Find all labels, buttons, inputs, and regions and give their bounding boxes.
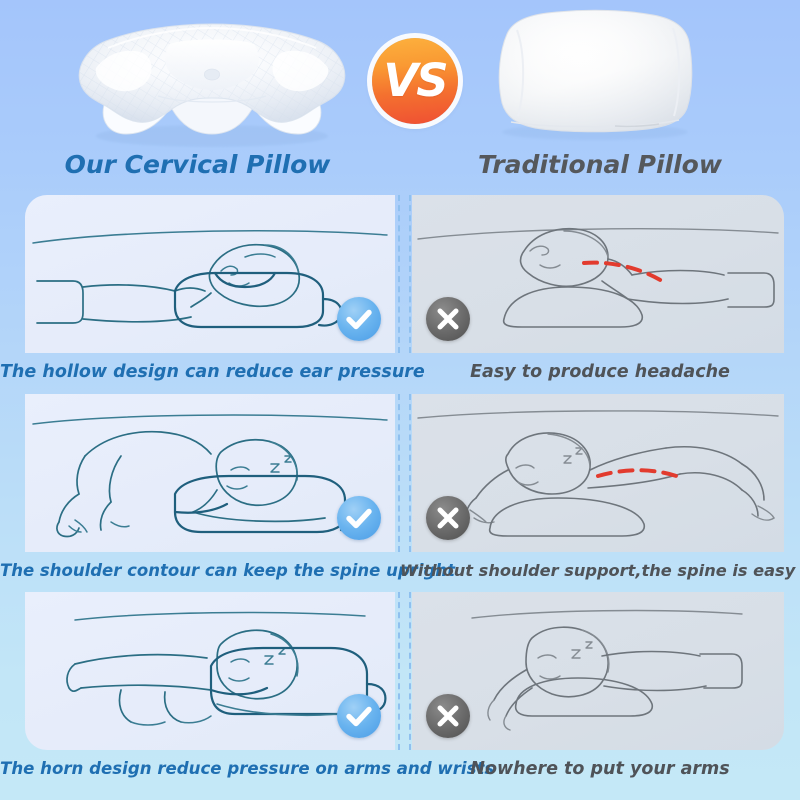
caption-left-row-1: The hollow design can reduce ear pressur…	[0, 355, 398, 389]
caption-right-row-2: Without shoulder support,the spine is ea…	[400, 554, 800, 588]
panel-divider-right-row-2	[409, 394, 411, 552]
check-badge-row-2	[337, 496, 381, 540]
column-title-right: Traditional Pillow	[400, 150, 800, 179]
panel-left-row-1	[25, 195, 395, 353]
comparison-grid: The hollow design can reduce ear pressur…	[0, 188, 800, 800]
panel-divider-left-row-2	[398, 394, 400, 552]
x-badge-row-2	[426, 496, 470, 540]
panel-divider-left-row-1	[398, 195, 400, 353]
cervical-pillow-photo	[62, 8, 362, 148]
column-title-left: Our Cervical Pillow	[0, 150, 395, 179]
comparison-row-1: The hollow design can reduce ear pressur…	[0, 195, 800, 391]
panel-left-row-3	[25, 592, 395, 750]
panel-right-row-2	[412, 394, 784, 552]
panel-right-row-1	[412, 195, 784, 353]
panel-left-row-2	[25, 394, 395, 552]
check-badge-row-1	[337, 297, 381, 341]
traditional-pillow-photo	[487, 6, 702, 142]
check-badge-row-3	[337, 694, 381, 738]
comparison-row-2: The shoulder contour can keep the spine …	[0, 394, 800, 590]
x-badge-row-1	[426, 297, 470, 341]
comparison-row-3: The horn design reduce pressure on arms …	[0, 592, 800, 788]
panel-divider-right-row-1	[409, 195, 411, 353]
panel-right-row-3	[412, 592, 784, 750]
vs-badge: VS	[372, 38, 458, 124]
caption-left-row-3: The horn design reduce pressure on arms …	[0, 752, 398, 786]
x-badge-row-3	[426, 694, 470, 738]
caption-left-row-2: The shoulder contour can keep the spine …	[0, 554, 398, 588]
hero-section: VS Our Cervical Pillow Traditional Pillo…	[0, 0, 800, 188]
panel-divider-left-row-3	[398, 592, 400, 750]
caption-right-row-1: Easy to produce headache	[400, 355, 800, 389]
vs-label: VS	[383, 58, 446, 103]
panel-divider-right-row-3	[409, 592, 411, 750]
caption-right-row-3: Nowhere to put your arms	[400, 752, 800, 786]
